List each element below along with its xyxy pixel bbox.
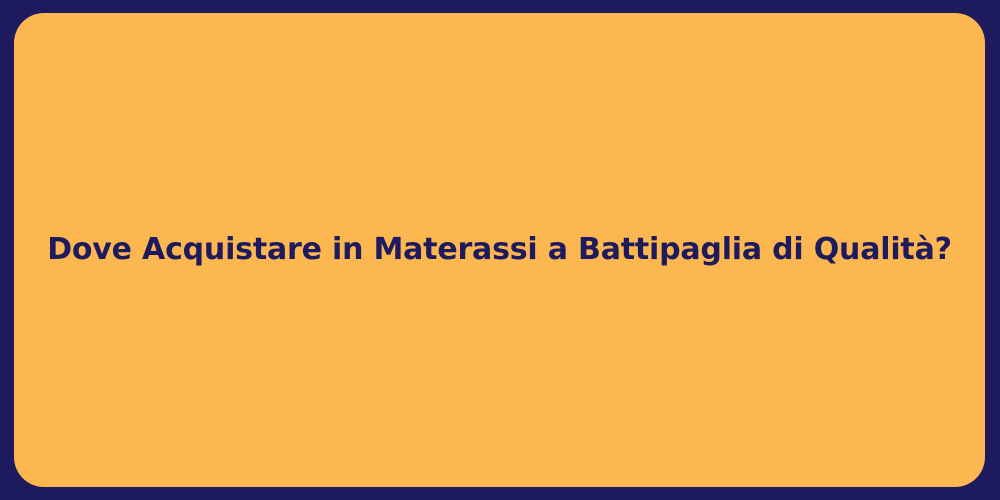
content-card: Dove Acquistare in Materassi a Battipagl… <box>14 13 985 487</box>
page-title: Dove Acquistare in Materassi a Battipagl… <box>14 231 985 269</box>
page-canvas: Dove Acquistare in Materassi a Battipagl… <box>0 0 1000 500</box>
